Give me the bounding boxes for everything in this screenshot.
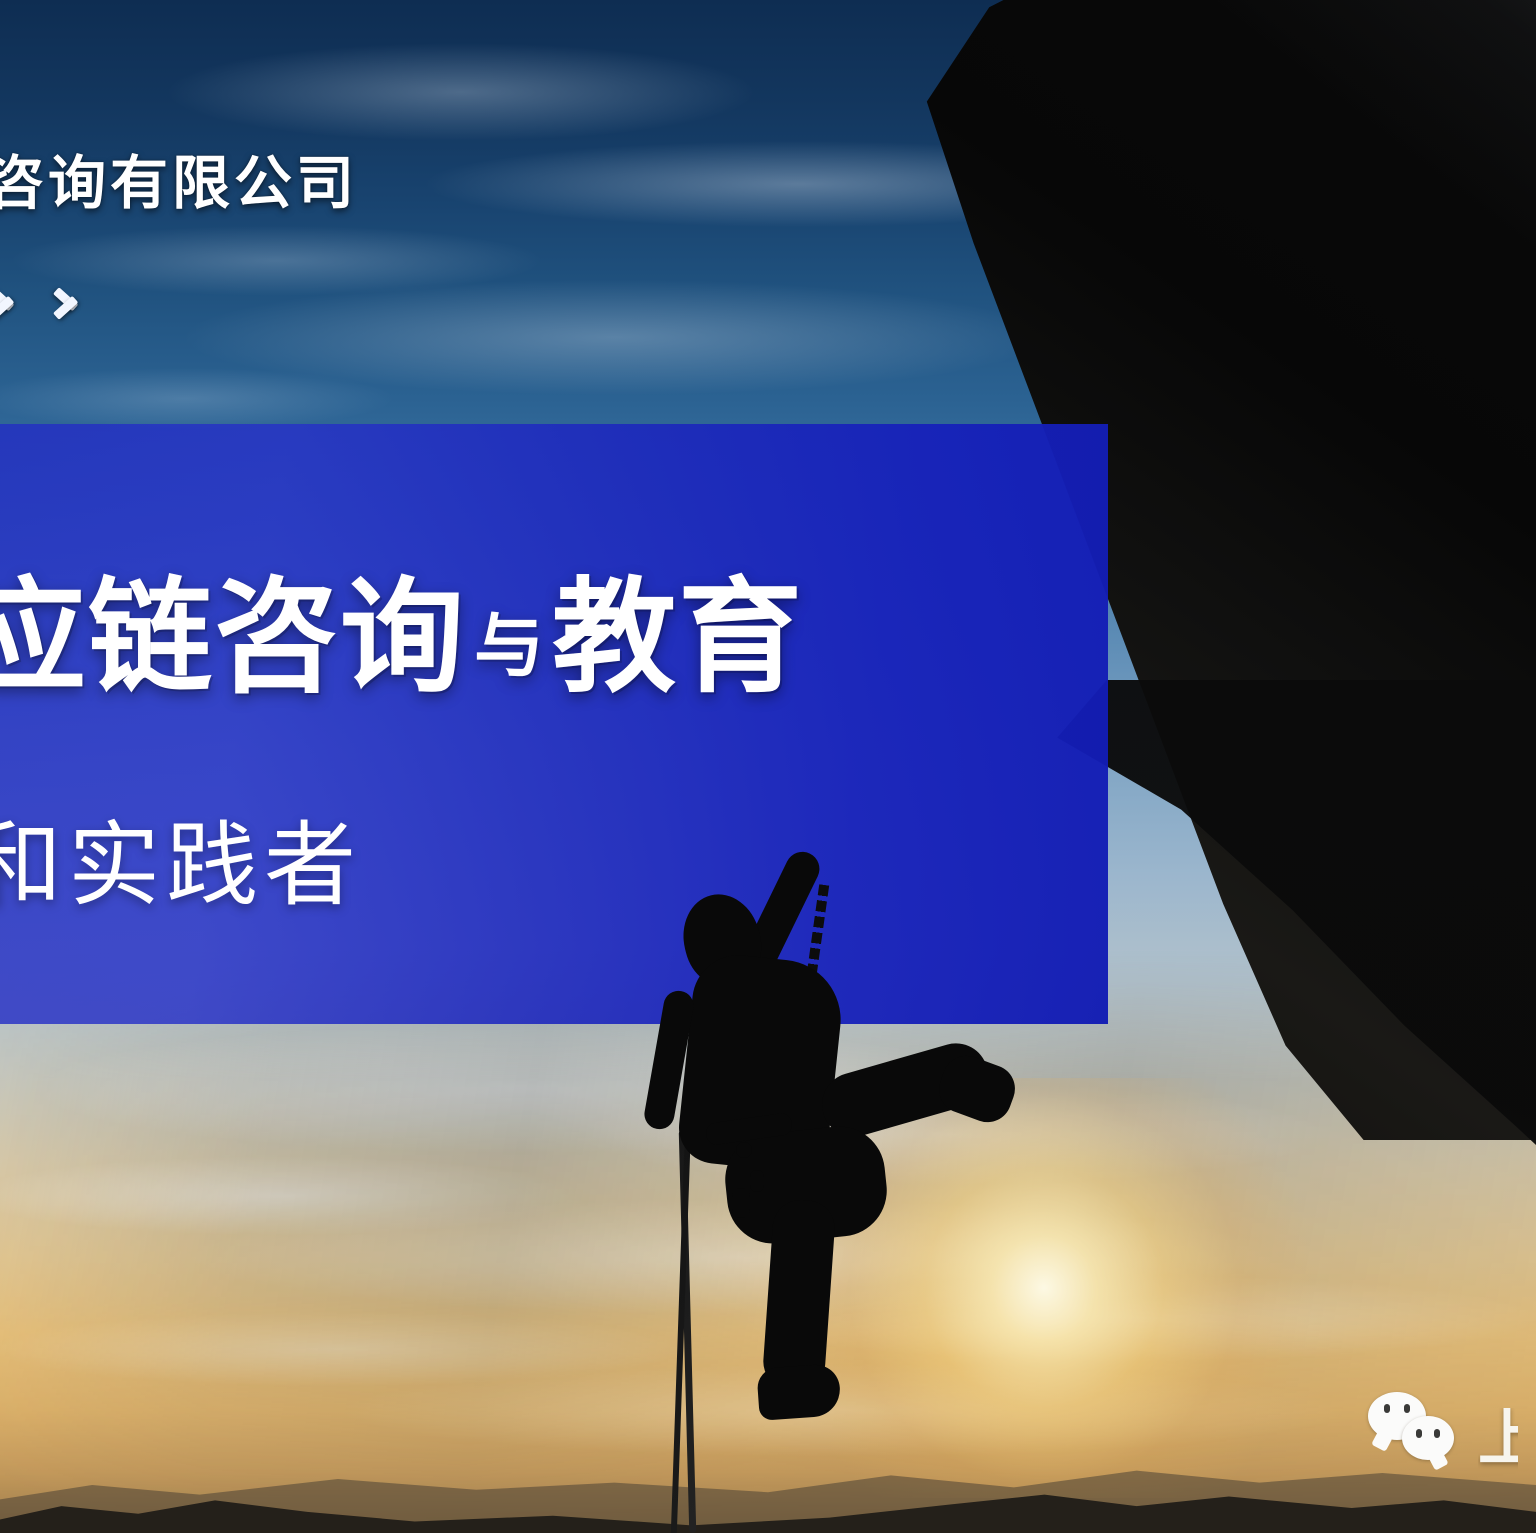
subheadline: 和实践者 bbox=[0, 820, 362, 912]
chevron-right-icon bbox=[0, 278, 16, 322]
chevron-group bbox=[0, 278, 80, 322]
headline-tail: 教育 bbox=[552, 569, 804, 707]
headline-conjunction: 与 bbox=[466, 607, 552, 685]
climber-shoe bbox=[756, 1363, 841, 1421]
wechat-account-label: 上 bbox=[1478, 1408, 1518, 1470]
climber-gear-carabiner bbox=[736, 1142, 752, 1158]
headline-main: 应链咨询 bbox=[0, 569, 466, 707]
climber-gear-quickdraw bbox=[732, 1188, 750, 1218]
banner-image: 咨询有限公司 应链咨询与教育 和实践者 上 bbox=[0, 0, 1536, 1533]
wechat-bubble-eye bbox=[1384, 1404, 1390, 1413]
rock-climber-silhouette bbox=[640, 880, 1040, 1440]
wechat-bubble-eye bbox=[1404, 1404, 1410, 1413]
wechat-watermark: 上 bbox=[1368, 1392, 1518, 1470]
wechat-bubble-eye bbox=[1434, 1429, 1440, 1438]
wechat-icon bbox=[1368, 1392, 1464, 1470]
headline: 应链咨询与教育 bbox=[0, 576, 804, 700]
wechat-bubble-eye bbox=[1416, 1429, 1422, 1438]
company-name: 咨询有限公司 bbox=[0, 136, 358, 220]
climber-leg-lower bbox=[761, 1198, 836, 1392]
wechat-bubble-small bbox=[1402, 1416, 1454, 1460]
climber-gear-cam bbox=[750, 1170, 764, 1192]
chevron-right-icon bbox=[54, 278, 80, 322]
